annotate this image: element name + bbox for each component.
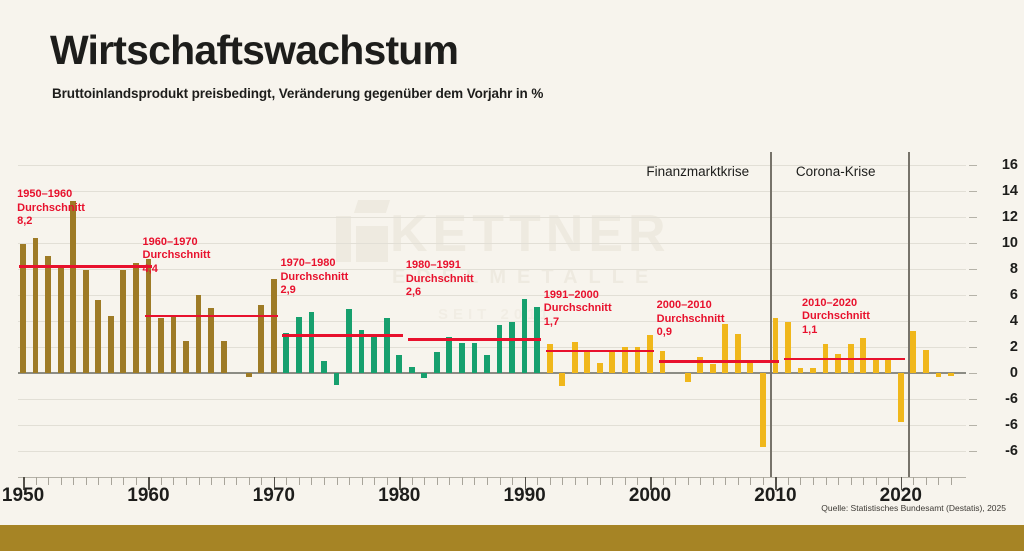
x-axis-tick-minor — [36, 477, 37, 485]
bar-1970 — [271, 279, 277, 373]
bar-2024 — [948, 373, 954, 376]
average-annotation-2000-2010: 2000–2010 Durchschnitt 0,9 — [657, 299, 725, 340]
average-annotation-1970-1980: 1970–1980 Durchschnitt 2,9 — [280, 257, 348, 298]
x-axis-tick-minor — [362, 477, 363, 485]
crisis-marker-corona-krise — [908, 152, 910, 477]
bar-1979 — [384, 318, 390, 373]
grid-line — [18, 451, 966, 452]
crisis-label-corona-krise: Corona-Krise — [796, 164, 876, 179]
bar-1989 — [509, 322, 515, 373]
y-axis-tick — [969, 451, 977, 452]
x-axis-tick-minor — [575, 477, 576, 485]
x-axis-tick-minor — [750, 477, 751, 485]
x-axis-tick-minor — [86, 477, 87, 485]
x-axis-tick-minor — [111, 477, 112, 485]
y-axis-label: 14 — [978, 183, 1018, 199]
y-axis-tick — [969, 191, 977, 192]
x-axis-tick-minor — [938, 477, 939, 485]
bar-1964 — [196, 295, 202, 373]
x-axis-tick-minor — [261, 477, 262, 485]
bar-1959 — [133, 263, 139, 374]
y-axis-label: 8 — [978, 261, 1018, 277]
x-axis-tick-minor — [123, 477, 124, 485]
x-axis-tick-minor — [249, 477, 250, 485]
x-axis-tick-minor — [738, 477, 739, 485]
x-axis-tick-minor — [337, 477, 338, 485]
x-axis-tick-minor — [688, 477, 689, 485]
x-axis-tick-minor — [324, 477, 325, 485]
bar-1978 — [371, 334, 377, 373]
bar-1956 — [95, 300, 101, 373]
bar-2005 — [710, 364, 716, 373]
average-line-1950-1960 — [19, 265, 152, 268]
x-axis-tick-minor — [211, 477, 212, 485]
x-axis-tick-minor — [926, 477, 927, 485]
grid-line — [18, 425, 966, 426]
bar-1972 — [296, 317, 302, 373]
y-axis-tick — [969, 321, 977, 322]
x-axis-tick-minor — [700, 477, 701, 485]
bar-1975 — [334, 373, 340, 385]
x-axis-tick-minor — [236, 477, 237, 485]
bar-2021 — [910, 331, 916, 373]
average-line-1960-1970 — [145, 315, 278, 318]
bar-2018 — [873, 360, 879, 373]
average-line-1980-1991 — [408, 338, 541, 341]
x-axis-label-1970: 1970 — [253, 485, 295, 507]
bar-2019 — [885, 359, 891, 373]
bar-1996 — [597, 363, 603, 373]
bar-2015 — [835, 354, 841, 374]
average-annotation-2010-2020: 2010–2020 Durchschnitt 1,1 — [802, 297, 870, 338]
footer-bar — [0, 525, 1024, 551]
bar-1973 — [309, 312, 315, 373]
x-axis-tick-minor — [462, 477, 463, 485]
x-axis-tick-minor — [675, 477, 676, 485]
x-axis-tick-minor — [61, 477, 62, 485]
y-axis-label: -6 — [978, 417, 1018, 433]
bar-1983 — [434, 352, 440, 373]
average-line-1991-2000 — [546, 350, 654, 353]
x-axis-tick-minor — [788, 477, 789, 485]
y-axis-label: 12 — [978, 209, 1018, 225]
x-axis-tick-minor — [73, 477, 74, 485]
bar-1990 — [522, 299, 528, 373]
y-axis-tick — [969, 347, 977, 348]
y-axis-label: -6 — [978, 391, 1018, 407]
x-axis-tick-minor — [286, 477, 287, 485]
grid-line — [18, 399, 966, 400]
bar-1985 — [459, 343, 465, 373]
x-axis-tick-minor — [876, 477, 877, 485]
x-axis-tick-minor — [512, 477, 513, 485]
x-axis-tick-minor — [612, 477, 613, 485]
bar-2010 — [773, 318, 779, 373]
x-axis-tick-minor — [562, 477, 563, 485]
page-subtitle: Bruttoinlandsprodukt preisbedingt, Verän… — [52, 86, 543, 101]
y-axis-label: 4 — [978, 313, 1018, 329]
x-axis-tick-minor — [713, 477, 714, 485]
y-axis-tick — [969, 243, 977, 244]
bar-1995 — [584, 351, 590, 373]
x-axis-tick-minor — [625, 477, 626, 485]
x-axis-tick-minor — [487, 477, 488, 485]
x-axis-tick-minor — [412, 477, 413, 485]
bar-2000 — [647, 335, 653, 373]
x-axis-tick-minor — [161, 477, 162, 485]
bar-1950 — [20, 244, 26, 373]
x-axis-tick-minor — [913, 477, 914, 485]
bar-2003 — [685, 373, 691, 382]
bar-1994 — [572, 342, 578, 373]
x-axis-label-2000: 2000 — [629, 485, 671, 507]
x-axis-label-1950: 1950 — [2, 485, 44, 507]
y-axis-label: 2 — [978, 339, 1018, 355]
x-axis-tick-minor — [387, 477, 388, 485]
bar-1984 — [446, 337, 452, 373]
x-axis-tick-minor — [474, 477, 475, 485]
x-axis-tick-minor — [224, 477, 225, 485]
chart-page: Wirtschaftswachstum Bruttoinlandsprodukt… — [0, 0, 1024, 551]
y-axis-tick — [969, 295, 977, 296]
y-axis-label: 6 — [978, 287, 1018, 303]
bar-1980 — [396, 355, 402, 373]
bar-1963 — [183, 341, 189, 374]
bar-1976 — [346, 309, 352, 373]
bar-1961 — [158, 318, 164, 373]
bar-1974 — [321, 361, 327, 373]
page-title: Wirtschaftswachstum — [50, 27, 458, 74]
crisis-marker-finanzmarktkrise — [770, 152, 772, 477]
y-axis-label: 0 — [978, 365, 1018, 381]
bar-1952 — [45, 256, 51, 373]
x-axis-tick-minor — [951, 477, 952, 485]
y-axis-label: 10 — [978, 235, 1018, 251]
x-axis-tick-minor — [98, 477, 99, 485]
y-axis-tick — [969, 373, 977, 374]
x-axis-tick-minor — [349, 477, 350, 485]
bar-1992 — [547, 344, 553, 373]
bar-2009 — [760, 373, 766, 447]
x-axis-tick-minor — [725, 477, 726, 485]
bar-1966 — [221, 341, 227, 374]
y-axis-tick — [969, 217, 977, 218]
x-axis-tick-minor — [437, 477, 438, 485]
bar-1958 — [120, 270, 126, 373]
x-axis-label-1990: 1990 — [503, 485, 545, 507]
x-axis-label-2010: 2010 — [754, 485, 796, 507]
x-axis-tick-minor — [550, 477, 551, 485]
x-axis-tick-minor — [600, 477, 601, 485]
x-axis-tick-minor — [374, 477, 375, 485]
bar-2022 — [923, 350, 929, 373]
bar-2013 — [810, 368, 816, 373]
x-axis-label-1980: 1980 — [378, 485, 420, 507]
y-axis-tick — [969, 269, 977, 270]
average-annotation-1960-1970: 1960–1970 Durchschnitt 4,4 — [143, 236, 211, 277]
x-axis-tick-minor — [888, 477, 889, 485]
average-line-2010-2020 — [784, 358, 905, 361]
bar-1997 — [609, 350, 615, 373]
average-annotation-1980-1991: 1980–1991 Durchschnitt 2,6 — [406, 259, 474, 300]
bar-1986 — [472, 343, 478, 373]
bar-1957 — [108, 316, 114, 373]
y-axis-label: 16 — [978, 157, 1018, 173]
bar-1965 — [208, 308, 214, 373]
x-axis-tick-minor — [838, 477, 839, 485]
x-axis-tick-minor — [199, 477, 200, 485]
y-axis-tick — [969, 399, 977, 400]
bar-1955 — [83, 270, 89, 373]
bar-1951 — [33, 238, 39, 373]
bar-1981 — [409, 367, 415, 374]
y-axis-tick — [969, 165, 977, 166]
x-axis-tick-minor — [800, 477, 801, 485]
average-line-1970-1980 — [282, 334, 403, 337]
x-axis-tick-minor — [826, 477, 827, 485]
bar-2023 — [936, 373, 942, 377]
x-axis-label-1960: 1960 — [127, 485, 169, 507]
grid-line — [18, 191, 966, 192]
y-axis-tick — [969, 425, 977, 426]
crisis-label-finanzmarktkrise: Finanzmarktkrise — [646, 164, 749, 179]
x-axis-label-2020: 2020 — [880, 485, 922, 507]
y-axis-label: -6 — [978, 443, 1018, 459]
x-axis-tick-minor — [186, 477, 187, 485]
x-axis-tick-minor — [637, 477, 638, 485]
x-axis-tick-minor — [763, 477, 764, 485]
bar-1988 — [497, 325, 503, 373]
x-axis-tick-minor — [424, 477, 425, 485]
x-axis-tick-minor — [311, 477, 312, 485]
bar-1962 — [171, 317, 177, 373]
x-axis-tick-minor — [587, 477, 588, 485]
x-axis-tick-minor — [449, 477, 450, 485]
x-axis-tick-minor — [48, 477, 49, 485]
x-axis-tick-minor — [851, 477, 852, 485]
bar-1987 — [484, 355, 490, 373]
x-axis-tick-minor — [173, 477, 174, 485]
grid-line — [18, 217, 966, 218]
x-axis-tick-minor — [299, 477, 300, 485]
bar-2020 — [898, 373, 904, 422]
bar-2012 — [798, 368, 804, 373]
bar-1953 — [58, 266, 64, 373]
average-line-2000-2010 — [659, 360, 780, 363]
average-annotation-1991-2000: 1991–2000 Durchschnitt 1,7 — [544, 289, 612, 330]
bar-1993 — [559, 373, 565, 386]
x-axis-tick-minor — [663, 477, 664, 485]
bar-2017 — [860, 338, 866, 373]
x-axis-tick-minor — [136, 477, 137, 485]
bar-1982 — [421, 373, 427, 378]
bar-1971 — [283, 333, 289, 373]
x-axis-tick-minor — [537, 477, 538, 485]
bar-1968 — [246, 373, 252, 377]
x-axis-tick-minor — [863, 477, 864, 485]
bar-2011 — [785, 322, 791, 373]
x-axis-tick-minor — [500, 477, 501, 485]
average-annotation-1950-1960: 1950–1960 Durchschnitt 8,2 — [17, 188, 85, 229]
x-axis-tick-minor — [813, 477, 814, 485]
bar-2007 — [735, 334, 741, 373]
